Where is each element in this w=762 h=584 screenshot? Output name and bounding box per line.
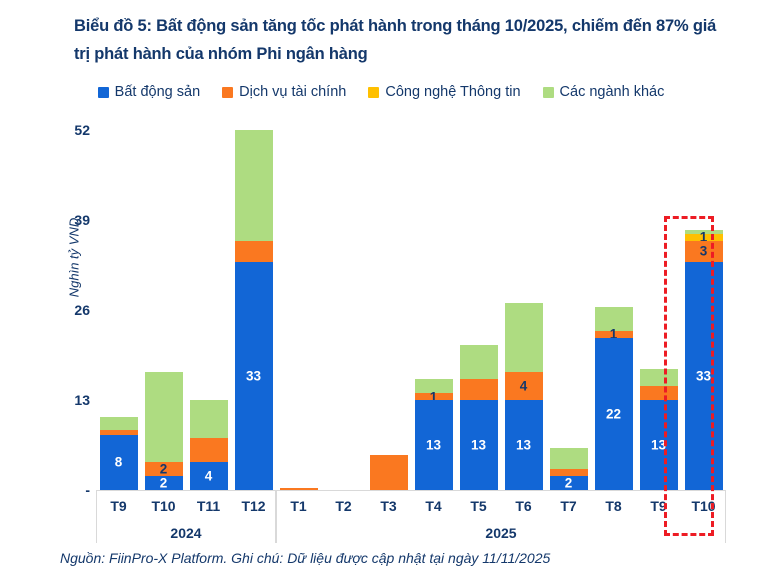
bar-column[interactable]: 413: [501, 130, 546, 490]
bar-segment-real_estate[interactable]: 13: [460, 400, 498, 490]
bar-segment-real_estate[interactable]: 2: [145, 476, 183, 490]
bar-value-label: 3: [685, 244, 723, 258]
bar-segment-other_sectors[interactable]: [640, 369, 678, 386]
bar-value-label: 13: [460, 438, 498, 452]
bar-column[interactable]: 4: [186, 130, 231, 490]
bar-value-label: 2: [145, 476, 183, 490]
bar-segment-financial_services[interactable]: 1: [415, 393, 453, 400]
bar-segment-real_estate[interactable]: 22: [595, 338, 633, 490]
bar-value-label: 13: [505, 438, 543, 452]
bar-value-label: 33: [685, 369, 723, 383]
bar-value-label: 4: [505, 379, 543, 393]
bar-segment-financial_services[interactable]: 2: [145, 462, 183, 476]
bar-segment-other_sectors[interactable]: [190, 400, 228, 438]
bar-segment-other_sectors[interactable]: [460, 345, 498, 380]
bar-column[interactable]: [366, 130, 411, 490]
bar-value-label: 2: [550, 476, 588, 490]
y-axis-tick-label: -: [44, 482, 90, 498]
bar-segment-financial_services[interactable]: 3: [685, 241, 723, 262]
bar-column[interactable]: 13: [456, 130, 501, 490]
bar-value-label: 22: [595, 407, 633, 421]
bar-value-label: 33: [235, 369, 273, 383]
y-axis-tick-label: 13: [44, 392, 90, 408]
y-axis-tick-label: 26: [44, 302, 90, 318]
bar-segment-real_estate[interactable]: 13: [415, 400, 453, 490]
bar-segment-real_estate[interactable]: 2: [550, 476, 588, 490]
bar-column[interactable]: 13: [636, 130, 681, 490]
bar-segment-real_estate[interactable]: 4: [190, 462, 228, 490]
bar-column[interactable]: 8: [96, 130, 141, 490]
chart-plot: Nghìn tỷ VND -13263952 82243311313413212…: [0, 0, 762, 584]
bar-column[interactable]: [321, 130, 366, 490]
bar-segment-other_sectors[interactable]: [550, 448, 588, 469]
bar-segment-other_sectors[interactable]: [505, 303, 543, 372]
bar-segment-financial_services[interactable]: [460, 379, 498, 400]
y-axis-tick-label: 39: [44, 212, 90, 228]
chart-page: Biểu đồ 5: Bất động sản tăng tốc phát hà…: [0, 0, 762, 584]
bar-column[interactable]: 22: [141, 130, 186, 490]
bar-segment-financial_services[interactable]: [190, 438, 228, 462]
bar-segment-other_sectors[interactable]: [145, 372, 183, 462]
bar-segment-other_sectors[interactable]: [100, 417, 138, 429]
bar-value-label: 13: [640, 438, 678, 452]
bar-value-label: 8: [100, 456, 138, 470]
bar-segment-information_technology[interactable]: 1: [685, 234, 723, 241]
bar-value-label: 2: [145, 462, 183, 476]
bar-segment-financial_services[interactable]: [235, 241, 273, 262]
footer-note: Nguồn: FiinPro-X Platform. Ghi chú: Dữ l…: [60, 550, 750, 566]
bar-value-label: 13: [415, 438, 453, 452]
bar-column[interactable]: 113: [411, 130, 456, 490]
bar-column[interactable]: [276, 130, 321, 490]
bar-column[interactable]: 122: [591, 130, 636, 490]
bar-segment-real_estate[interactable]: 8: [100, 435, 138, 490]
y-axis-ticks: -13263952: [42, 0, 90, 584]
bar-value-label: 4: [190, 469, 228, 483]
bar-segment-real_estate[interactable]: 33: [235, 262, 273, 490]
bar-segment-real_estate[interactable]: 13: [505, 400, 543, 490]
plot-area: 822433113134132122131333: [96, 130, 726, 490]
bar-segment-financial_services[interactable]: [370, 455, 408, 490]
bar-segment-real_estate[interactable]: 33: [685, 262, 723, 490]
bar-segment-financial_services[interactable]: [640, 386, 678, 400]
bar-column[interactable]: 2: [546, 130, 591, 490]
bar-column[interactable]: 1333: [681, 130, 726, 490]
bar-segment-other_sectors[interactable]: [235, 130, 273, 241]
footer-divider: [0, 543, 762, 544]
bar-column[interactable]: 33: [231, 130, 276, 490]
bar-segment-real_estate[interactable]: 13: [640, 400, 678, 490]
bar-segment-financial_services[interactable]: 4: [505, 372, 543, 400]
bar-segment-financial_services[interactable]: 1: [595, 331, 633, 338]
y-axis-tick-label: 52: [44, 122, 90, 138]
